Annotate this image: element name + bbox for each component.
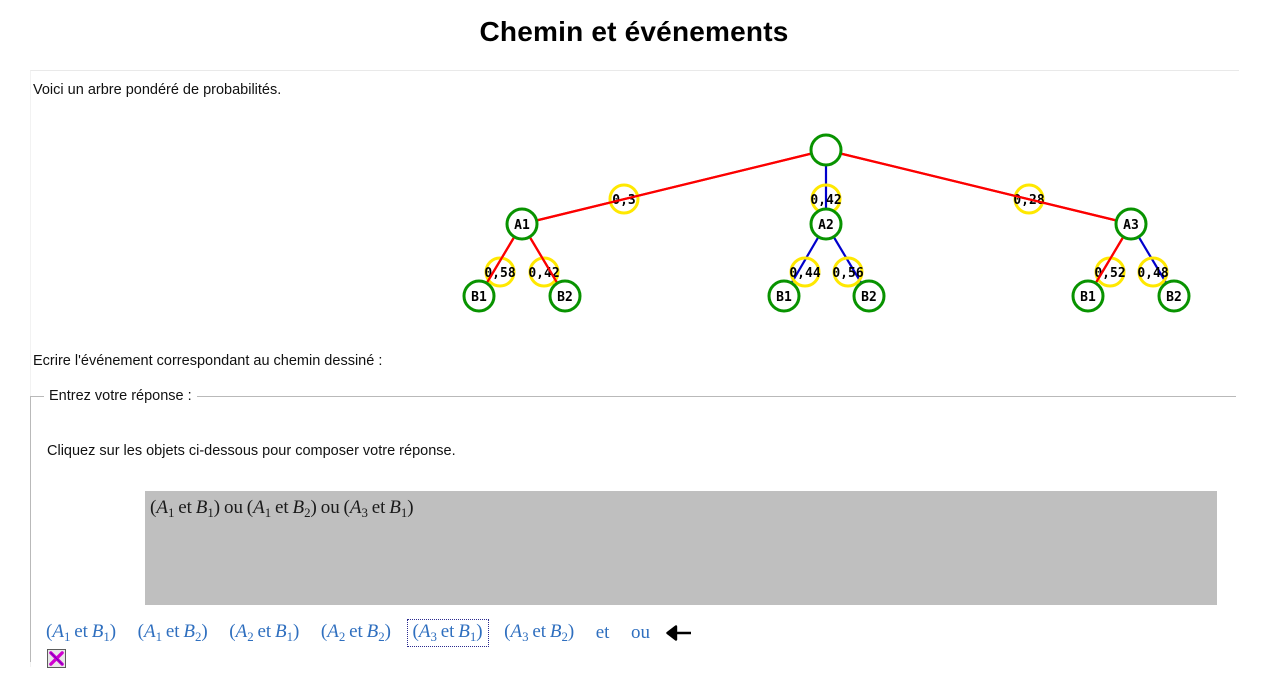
math-group: (A3 et B1) xyxy=(413,621,483,642)
math-group: (A2 et B1) xyxy=(229,621,299,642)
tree-node-label: A3 xyxy=(1123,218,1139,233)
question-prompt: Ecrire l'événement correspondant au chem… xyxy=(33,353,382,369)
math-group: (A1 et B1) xyxy=(46,621,116,642)
probability-tree: 0,30,420,280,580,420,440,560,520,48A1A2A… xyxy=(30,105,1238,335)
token-palette: (A1 et B1) (A1 et B2) (A2 et B1) (A2 et … xyxy=(40,619,692,647)
tree-node-label: B1 xyxy=(1080,290,1096,305)
palette-item-a2etb2[interactable]: (A2 et B2) xyxy=(315,619,397,647)
tree-edge-highlight[interactable] xyxy=(826,150,1131,224)
backspace-arrow-icon[interactable] xyxy=(666,625,692,641)
palette-item-a2etb1[interactable]: (A2 et B1) xyxy=(223,619,305,647)
math-group: (A1 et B2) xyxy=(138,621,208,642)
page-root: Chemin et événements Voici un arbre pond… xyxy=(0,0,1268,674)
math-operator: ou xyxy=(321,497,340,518)
palette-item-a3etb1[interactable]: (A3 et B1) xyxy=(407,619,489,647)
tree-node-label: A1 xyxy=(514,218,530,233)
click-instruction: Cliquez sur les objets ci-dessous pour c… xyxy=(47,443,456,459)
answer-expression: (A1 et B1) ou (A1 et B2) ou (A3 et B1) xyxy=(150,497,414,521)
tree-node-root[interactable] xyxy=(811,135,841,165)
tree-node-label: A2 xyxy=(818,218,834,233)
page-title: Chemin et événements xyxy=(0,16,1268,48)
edge-weight-label: 0,44 xyxy=(789,266,820,281)
clear-icon[interactable] xyxy=(47,649,66,668)
math-group: (A3 et B1) xyxy=(344,497,414,518)
palette-item-a1etb1[interactable]: (A1 et B1) xyxy=(40,619,122,647)
math-operator: ou xyxy=(224,497,243,518)
palette-item-a3etb2[interactable]: (A3 et B2) xyxy=(498,619,580,647)
tree-node-label: B1 xyxy=(471,290,487,305)
tree-node-label: B2 xyxy=(1166,290,1182,305)
edge-weight-label: 0,48 xyxy=(1137,266,1168,281)
answer-display-box[interactable]: (A1 et B1) ou (A1 et B2) ou (A3 et B1) xyxy=(145,491,1217,605)
tree-node-label: B2 xyxy=(861,290,877,305)
tree-node-label: B1 xyxy=(776,290,792,305)
math-group: (A1 et B2) xyxy=(247,497,317,518)
palette-item-ou[interactable]: ou xyxy=(625,620,656,646)
math-group: (A3 et B2) xyxy=(504,621,574,642)
probability-tree-svg: 0,30,420,280,580,420,440,560,520,48A1A2A… xyxy=(30,105,1238,335)
edge-weight-label: 0,56 xyxy=(832,266,863,281)
palette-item-et[interactable]: et xyxy=(590,620,616,646)
answer-fieldset-legend: Entrez votre réponse : xyxy=(44,388,197,404)
edge-weight-label: 0,42 xyxy=(810,193,841,208)
edge-weight-label: 0,28 xyxy=(1013,193,1044,208)
tree-node-label: B2 xyxy=(557,290,573,305)
tree-edge-highlight[interactable] xyxy=(522,150,826,224)
math-group: (A2 et B2) xyxy=(321,621,391,642)
intro-text: Voici un arbre pondéré de probabilités. xyxy=(33,82,281,98)
palette-item-a1etb2[interactable]: (A1 et B2) xyxy=(132,619,214,647)
math-group: (A1 et B1) xyxy=(150,497,220,518)
